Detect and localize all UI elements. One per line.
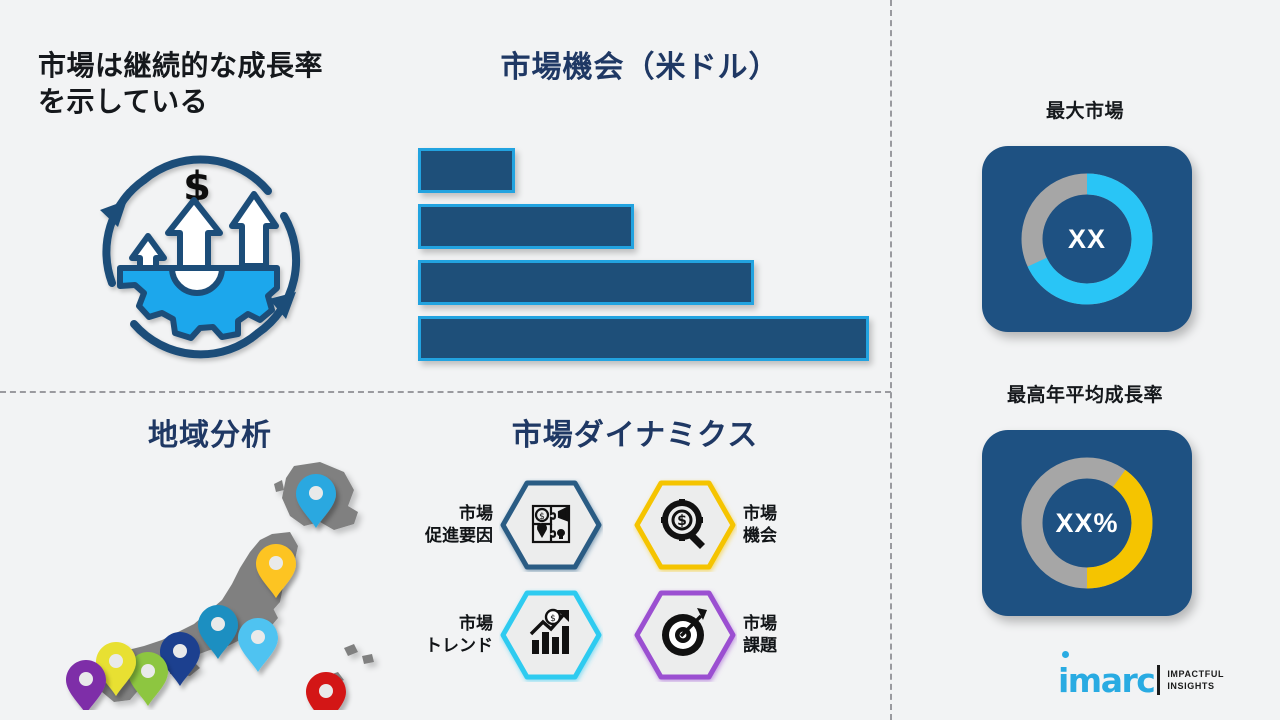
- target-dart-icon-hexagon[interactable]: [633, 588, 737, 682]
- map-pin-hole: [173, 644, 187, 658]
- market-opportunity-title: 市場機会（米ドル）: [410, 50, 870, 86]
- bar-3: [418, 260, 754, 305]
- highest-cagr-donut-card: XX%: [982, 430, 1192, 616]
- dynamics-item-label: 市場 機会: [743, 503, 838, 548]
- map-pin-hole: [251, 630, 265, 644]
- vertical-divider: [890, 0, 892, 720]
- horizontal-divider: [0, 391, 891, 393]
- growth-statement-title: 市場は継続的な成長率 を示している: [38, 48, 388, 120]
- market-dynamics-title: 市場ダイナミクス: [400, 418, 870, 454]
- svg-text:$: $: [550, 614, 556, 624]
- dynamics-item-3[interactable]: 市場 トレンド$: [398, 585, 633, 685]
- map-pin-hole: [109, 654, 123, 668]
- largest-market-caption: 最大市場: [940, 96, 1230, 123]
- map-pin-hole: [269, 556, 283, 570]
- imarc-dot-icon: [1062, 651, 1069, 658]
- dynamics-item-1[interactable]: 市場 促進要因$: [398, 475, 633, 575]
- imarc-logo: imarc IMPACTFUL INSIGHTS: [1058, 658, 1248, 702]
- highest-cagr-donut: [1012, 448, 1162, 598]
- bar-2: [418, 204, 634, 249]
- puzzle-pieces-icon-hexagon[interactable]: $: [499, 478, 603, 572]
- magnifier-dollar-icon-hexagon[interactable]: $: [633, 478, 737, 572]
- largest-market-donut: [1012, 164, 1162, 314]
- infographic-slide: 市場は継続的な成長率 を示している $: [0, 0, 1280, 720]
- region-analysis-title: 地域分析: [60, 418, 360, 454]
- growth-cycle-gear-icon: $: [72, 128, 322, 373]
- map-pin-hole: [141, 664, 155, 678]
- japan-region-shape: [362, 654, 374, 664]
- dynamics-item-label: 市場 トレンド: [398, 613, 493, 658]
- map-pin-hole: [319, 684, 333, 698]
- svg-text:$: $: [677, 513, 687, 529]
- market-opportunity-bar-chart: [418, 148, 878, 353]
- imarc-wordmark: imarc: [1058, 664, 1154, 697]
- map-pin-hole: [79, 672, 93, 686]
- pin-kanto[interactable]: [238, 618, 278, 672]
- imarc-divider-bar: [1157, 665, 1160, 695]
- market-dynamics-grid: 市場 促進要因$$市場 機会市場 トレンド$市場 課題: [398, 475, 868, 685]
- bar-1: [418, 148, 515, 193]
- pin-kyushu[interactable]: [66, 660, 106, 710]
- largest-market-donut-card: XX: [982, 146, 1192, 332]
- dynamics-item-label: 市場 促進要因: [398, 503, 493, 548]
- dynamics-item-2[interactable]: $市場 機会: [633, 475, 868, 575]
- dynamics-item-4[interactable]: 市場 課題: [633, 585, 868, 685]
- japan-region-shape: [274, 480, 284, 492]
- imarc-tagline: IMPACTFUL INSIGHTS: [1167, 668, 1224, 692]
- svg-text:$: $: [539, 512, 545, 522]
- map-pin-hole: [211, 617, 225, 631]
- bar-4: [418, 316, 869, 361]
- hexagon-outline: [503, 593, 599, 677]
- bar-chart-arrow-icon-hexagon[interactable]: $: [499, 588, 603, 682]
- japan-region-shape: [344, 644, 358, 656]
- japan-map-pins: [66, 474, 346, 710]
- map-pin-body: [238, 618, 278, 672]
- dynamics-item-label: 市場 課題: [743, 613, 838, 658]
- japan-map: [58, 460, 398, 710]
- highest-cagr-caption: 最高年平均成長率: [940, 380, 1230, 407]
- map-pin-hole: [309, 486, 323, 500]
